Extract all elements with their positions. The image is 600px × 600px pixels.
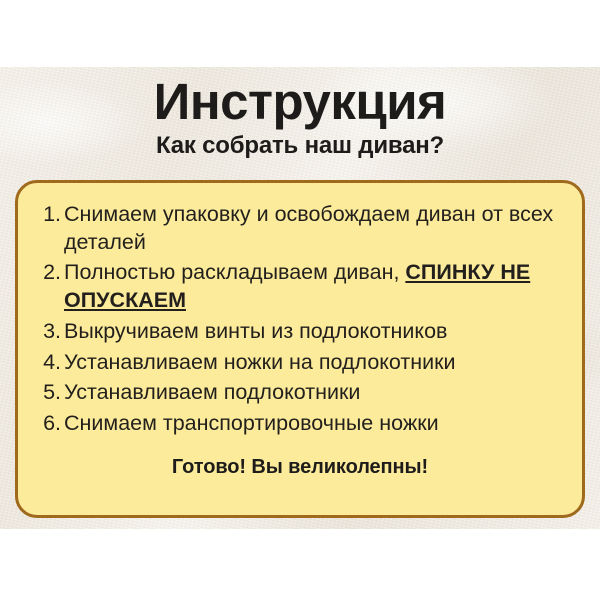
step-number: 3. [36,318,64,346]
instruction-step: 1.Снимаем упаковку и освобождаем диван о… [36,201,564,256]
instruction-step: 3.Выкручиваем винты из подлокотников [36,318,564,346]
step-text: Устанавливаем подлокотники [64,379,564,407]
instruction-steps-list: 1.Снимаем упаковку и освобождаем диван о… [36,201,564,438]
step-text-plain: Устанавливаем ножки на подлокотники [64,350,456,374]
step-number: 1. [36,201,64,229]
step-text: Полностью раскладываем диван, СПИНКУ НЕ … [64,259,564,314]
step-text: Выкручиваем винты из подлокотников [64,318,564,346]
step-text-plain: Выкручиваем винты из подлокотников [64,319,447,343]
heading-block: Инструкция Как собрать наш диван? [0,74,600,160]
page-title: Инструкция [0,74,600,129]
step-number: 2. [36,259,64,287]
poster-canvas: Инструкция Как собрать наш диван? 1.Сним… [0,0,600,600]
step-number: 6. [36,410,64,438]
page-subtitle: Как собрать наш диван? [0,132,600,160]
card-footer-text: Готово! Вы великолепны! [36,456,564,479]
instruction-step: 2.Полностью раскладываем диван, СПИНКУ Н… [36,259,564,314]
step-text: Снимаем упаковку и освобождаем диван от … [64,201,564,256]
step-text-plain: Снимаем транспортировочные ножки [64,411,439,435]
step-number: 5. [36,379,64,407]
instruction-card: 1.Снимаем упаковку и освобождаем диван о… [15,180,585,518]
step-text-plain: Снимаем упаковку и освобождаем диван от … [64,202,553,254]
step-number: 4. [36,349,64,377]
step-text: Снимаем транспортировочные ножки [64,410,564,438]
instruction-step: 4.Устанавливаем ножки на подлокотники [36,349,564,377]
step-text: Устанавливаем ножки на подлокотники [64,349,564,377]
step-text-plain: Полностью раскладываем диван, [64,260,405,284]
step-text-plain: Устанавливаем подлокотники [64,380,360,404]
instruction-step: 6.Снимаем транспортировочные ножки [36,410,564,438]
instruction-step: 5.Устанавливаем подлокотники [36,379,564,407]
